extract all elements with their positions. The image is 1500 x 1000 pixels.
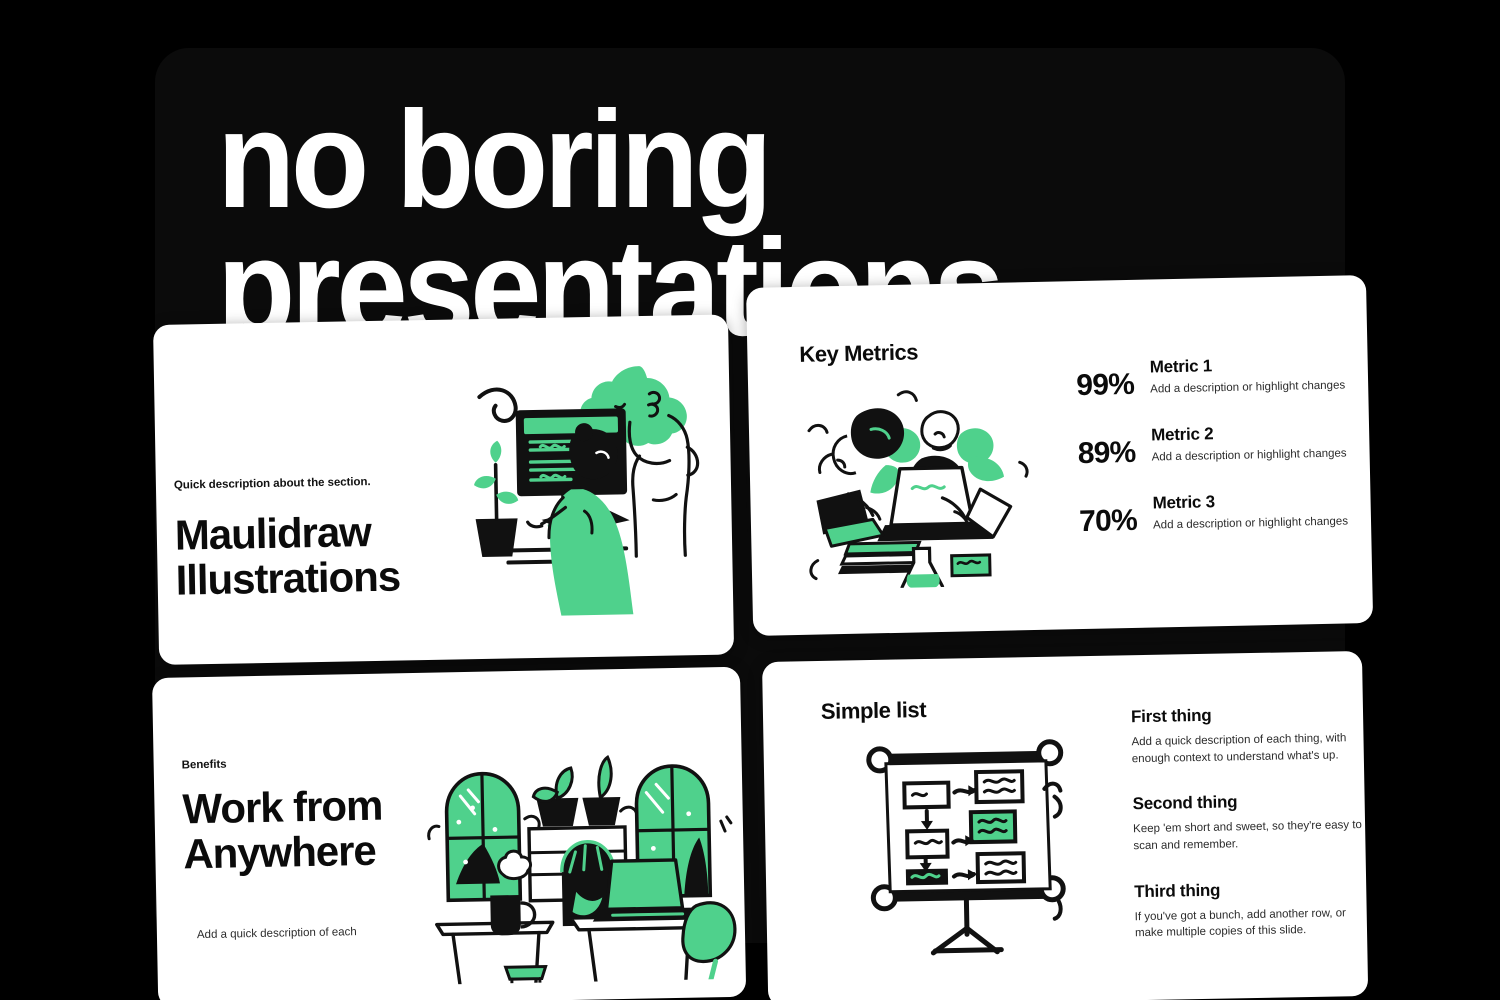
slide3-caption: Benefits — [182, 754, 452, 771]
metric-label: Metric 2 — [1151, 421, 1346, 445]
slide1-caption: Quick description about the section. — [174, 474, 474, 491]
slide3-footer-text: Add a quick description of each — [197, 922, 447, 943]
metric-value: 99% — [1048, 358, 1135, 404]
slide1-title-line1: Maulidraw — [174, 508, 475, 558]
metric-label: Metric 3 — [1152, 489, 1347, 513]
metrics-list: 99% Metric 1 Add a description or highli… — [1048, 353, 1352, 563]
slide-card-work-from-anywhere[interactable]: Benefits Work from Anywhere Add a quick … — [152, 667, 746, 1000]
metric-description: Add a description or highlight changes — [1151, 445, 1346, 466]
simple-list-items: First thing Add a quick description of e… — [1131, 703, 1366, 969]
list-item-description: Add a quick description of each thing, w… — [1131, 730, 1362, 768]
home-office-desk-plants-illustration — [423, 729, 738, 985]
metric-row[interactable]: 99% Metric 1 Add a description or highli… — [1048, 353, 1349, 403]
slide-card-key-metrics[interactable]: Key Metrics — [746, 275, 1373, 636]
presentation-showcase: no boring presentations Quick descriptio… — [0, 0, 1500, 1000]
slide-card-maulidraw-illustrations[interactable]: Quick description about the section. Mau… — [153, 314, 734, 664]
list-item-description: If you've got a bunch, add another row, … — [1135, 905, 1366, 943]
list-item[interactable]: First thing Add a quick description of e… — [1131, 703, 1362, 768]
list-item-description: Keep 'em short and sweet, so they're eas… — [1133, 817, 1364, 855]
list-item-heading: Third thing — [1134, 878, 1364, 902]
metric-row[interactable]: 70% Metric 3 Add a description or highli… — [1050, 489, 1351, 539]
two-people-at-computer-illustration — [443, 347, 728, 622]
metric-value: 89% — [1049, 426, 1136, 472]
list-item-heading: First thing — [1131, 703, 1361, 727]
list-item[interactable]: Third thing If you've got a bunch, add a… — [1134, 878, 1365, 943]
team-with-laptops-illustration — [792, 370, 1046, 590]
metric-row[interactable]: 89% Metric 2 Add a description or highli… — [1049, 421, 1350, 471]
slide4-title: Simple list — [821, 697, 927, 725]
metric-label: Metric 1 — [1150, 353, 1345, 377]
list-item-heading: Second thing — [1132, 790, 1362, 814]
slide-card-simple-list[interactable]: Simple list — [762, 651, 1368, 1000]
slide2-title: Key Metrics — [799, 339, 918, 367]
slide3-title-line1: Work from — [182, 782, 453, 832]
list-item[interactable]: Second thing Keep 'em short and sweet, s… — [1132, 790, 1363, 855]
slide3-text-block: Benefits Work from Anywhere — [182, 754, 454, 876]
metric-value: 70% — [1050, 494, 1137, 540]
flipchart-diagram-illustration — [863, 736, 1067, 960]
slide3-title-line2: Anywhere — [183, 827, 454, 877]
slide1-title-line2: Illustrations — [175, 553, 476, 603]
slide1-text-block: Quick description about the section. Mau… — [174, 474, 476, 603]
metric-description: Add a description or highlight changes — [1150, 377, 1345, 398]
metric-description: Add a description or highlight changes — [1153, 513, 1348, 534]
